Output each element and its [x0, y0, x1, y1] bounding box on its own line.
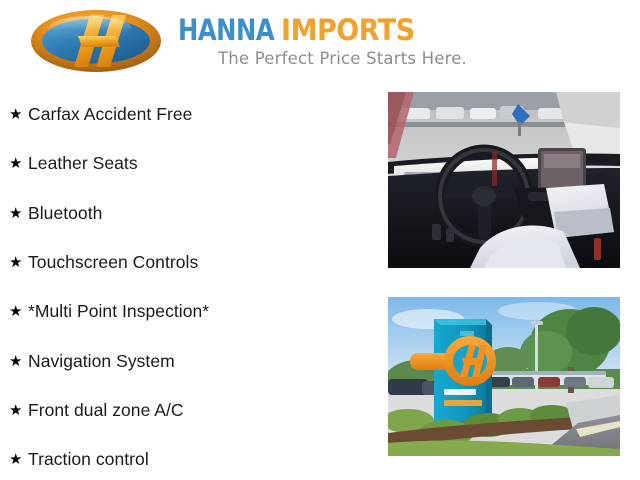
hanna-imports-logo-icon — [30, 9, 162, 73]
star-bullet-icon: ★ — [9, 354, 28, 369]
list-item: ★ Leather Seats — [0, 139, 380, 188]
list-item: ★ Carfax Accident Free — [0, 90, 380, 139]
list-item: ★ Front dual zone A/C — [0, 386, 380, 435]
feature-sheet-page: HANNAIMPORTS The Perfect Price Starts He… — [0, 0, 640, 480]
list-item: ★ Touchscreen Controls — [0, 238, 380, 287]
list-item: ★ Traction control — [0, 435, 380, 480]
dealership-sign-photo — [388, 297, 620, 456]
feature-label: Navigation System — [28, 351, 175, 372]
list-item: ★ Bluetooth — [0, 189, 380, 238]
star-bullet-icon: ★ — [9, 156, 28, 171]
star-bullet-icon: ★ — [9, 304, 28, 319]
feature-label: Bluetooth — [28, 203, 102, 224]
feature-label: Front dual zone A/C — [28, 400, 184, 421]
star-bullet-icon: ★ — [9, 452, 28, 467]
feature-label: *Multi Point Inspection* — [28, 301, 209, 322]
vehicle-feature-list: ★ Carfax Accident Free ★ Leather Seats ★… — [0, 90, 380, 480]
brand-name-hanna: HANNA — [178, 14, 274, 46]
feature-label: Leather Seats — [28, 153, 138, 174]
brand-name-imports: IMPORTS — [281, 14, 415, 46]
brand-tagline: The Perfect Price Starts Here. — [218, 49, 467, 68]
star-bullet-icon: ★ — [9, 255, 28, 270]
star-bullet-icon: ★ — [9, 107, 28, 122]
list-item: ★ Navigation System — [0, 336, 380, 385]
brand-header: HANNAIMPORTS The Perfect Price Starts He… — [0, 0, 640, 86]
vehicle-interior-photo — [388, 92, 620, 268]
brand-wordmark: HANNAIMPORTS — [178, 14, 425, 46]
star-bullet-icon: ★ — [9, 403, 28, 418]
list-item: ★ *Multi Point Inspection* — [0, 287, 380, 336]
feature-label: Traction control — [28, 449, 149, 470]
feature-label: Touchscreen Controls — [28, 252, 198, 273]
star-bullet-icon: ★ — [9, 206, 28, 221]
feature-label: Carfax Accident Free — [28, 104, 192, 125]
